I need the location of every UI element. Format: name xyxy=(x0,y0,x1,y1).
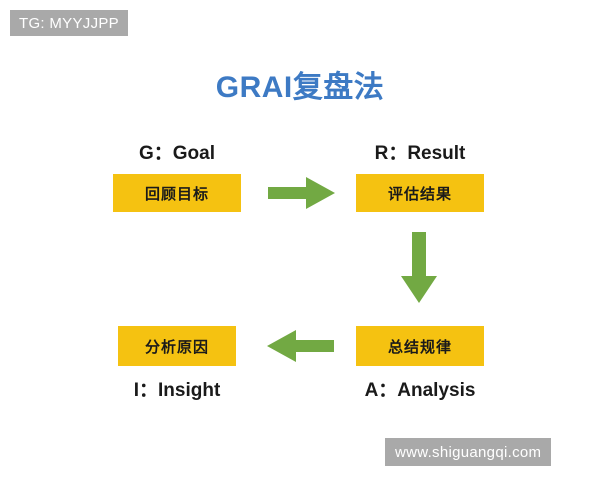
slide-canvas: TG: MYYJJPP GRAI复盘法 G：Goal 回顾目标 R：Result… xyxy=(0,0,600,480)
node-caption-result: R：Result xyxy=(356,138,484,165)
node-caption-analysis: A：Analysis xyxy=(356,375,484,402)
page-title: GRAI复盘法 xyxy=(0,62,600,106)
node-box-analysis[interactable]: 总结规律 xyxy=(356,326,484,366)
node-caption-goal: G：Goal xyxy=(113,138,241,165)
node-box-result[interactable]: 评估结果 xyxy=(356,174,484,212)
node-caption-insight: I：Insight xyxy=(113,375,241,402)
node-box-insight[interactable]: 分析原因 xyxy=(118,326,236,366)
watermark-top-left: TG: MYYJJPP xyxy=(10,10,128,36)
watermark-bottom-right: www.shiguangqi.com xyxy=(385,438,551,466)
arrow-left-icon xyxy=(266,328,334,364)
arrow-right-icon xyxy=(268,176,336,210)
arrow-down-icon xyxy=(400,232,438,304)
node-box-goal[interactable]: 回顾目标 xyxy=(113,174,241,212)
